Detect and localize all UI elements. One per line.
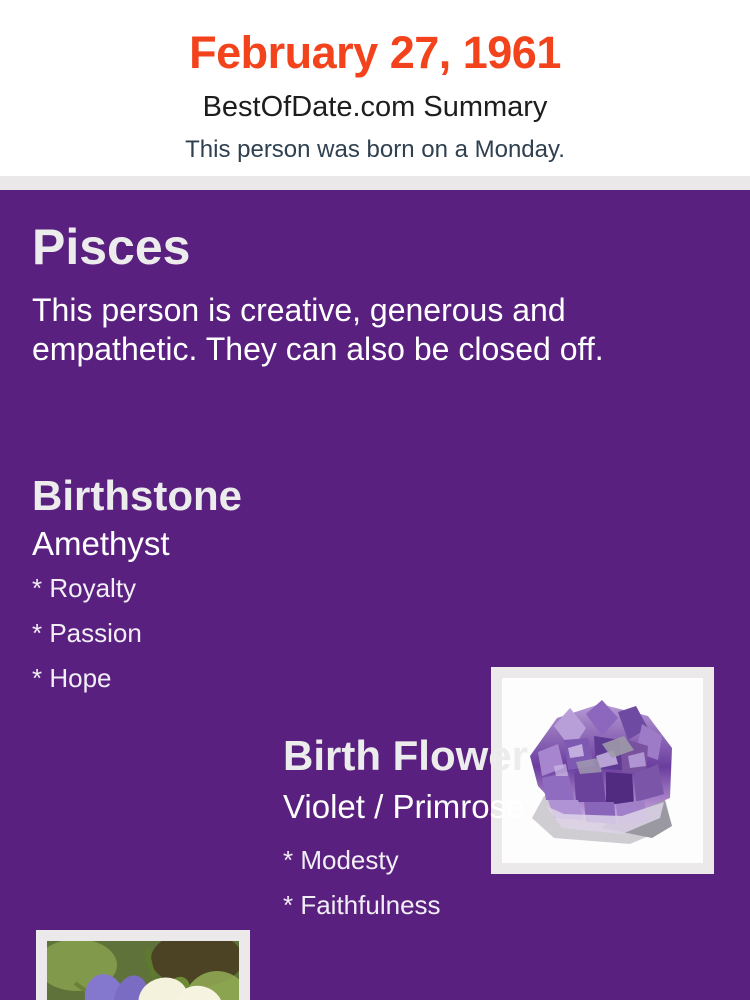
amethyst-crystal-icon <box>502 678 703 863</box>
birthstone-heading: Birthstone <box>32 475 242 517</box>
birth-flower-trait-list: * Modesty * Faithfulness <box>283 847 441 937</box>
header: February 27, 1961 BestOfDate.com Summary… <box>0 0 750 176</box>
list-item: * Hope <box>32 665 142 691</box>
page-title: February 27, 1961 <box>0 0 750 75</box>
list-item: * Modesty <box>283 847 441 873</box>
violet-primrose-icon <box>47 941 239 1000</box>
born-weekday-text: This person was born on a Monday. <box>0 138 750 162</box>
birthstone-image <box>502 678 703 863</box>
list-item: * Passion <box>32 620 142 646</box>
header-divider <box>0 176 750 190</box>
zodiac-description: This person is creative, generous and em… <box>32 291 700 369</box>
birth-flower-name: Violet / Primrose <box>283 790 524 823</box>
birth-flower-heading: Birth Flower <box>283 735 528 777</box>
list-item: * Royalty <box>32 575 142 601</box>
list-item: * Faithfulness <box>283 892 441 918</box>
infographic-page: February 27, 1961 BestOfDate.com Summary… <box>0 0 750 1000</box>
body-panel: Pisces This person is creative, generous… <box>0 190 750 1000</box>
zodiac-sign-heading: Pisces <box>32 222 190 272</box>
birthstone-name: Amethyst <box>32 527 170 560</box>
birth-flower-image <box>47 941 239 1000</box>
birth-flower-image-frame <box>36 930 250 1000</box>
birthstone-trait-list: * Royalty * Passion * Hope <box>32 575 142 710</box>
site-summary-label: BestOfDate.com Summary <box>0 93 750 122</box>
